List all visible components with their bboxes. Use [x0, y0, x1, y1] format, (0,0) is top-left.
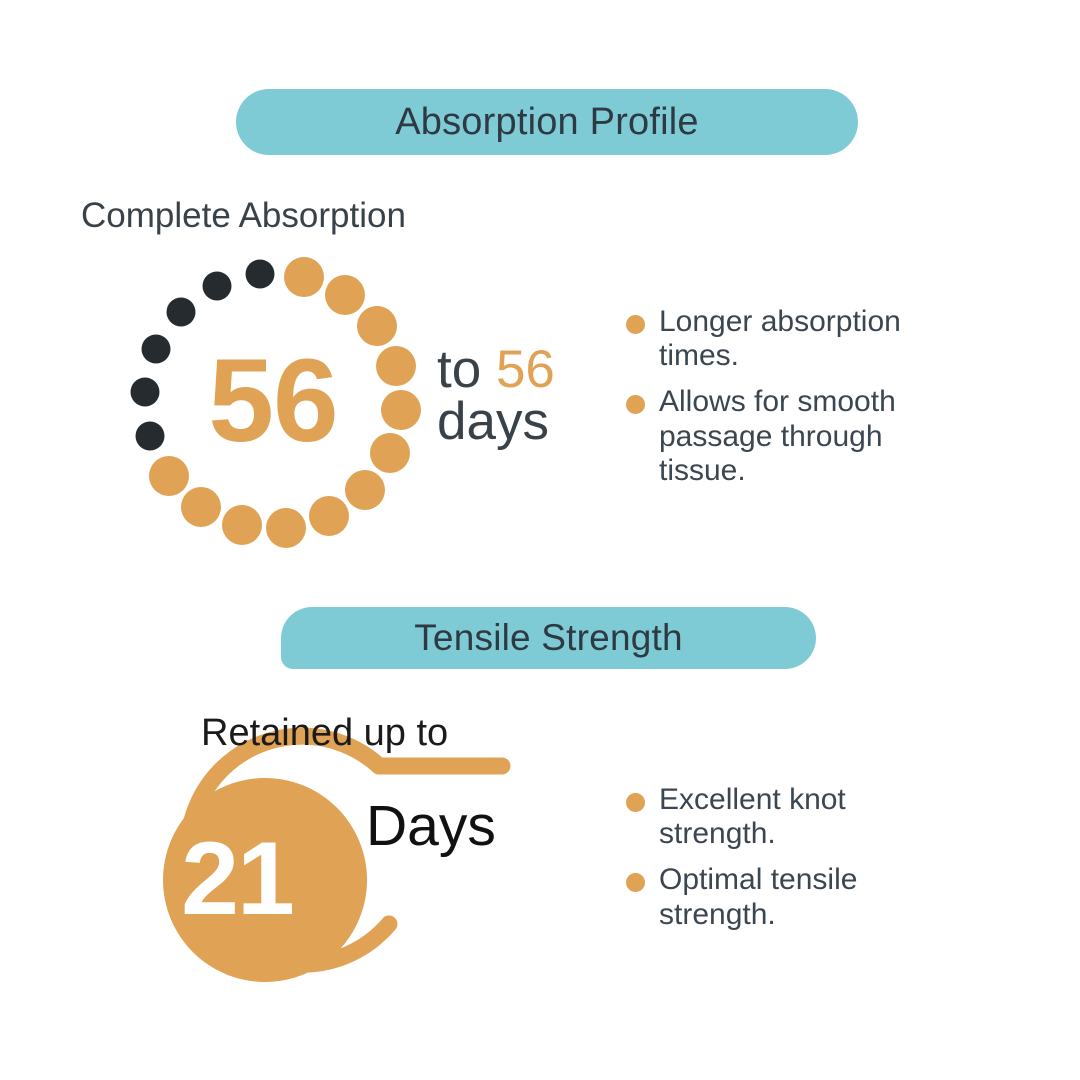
sub-label-retained-up-to: Retained up to [201, 712, 448, 755]
list-item: Allows for smooth passage through tissue… [626, 385, 956, 488]
bullet-dot-icon [626, 793, 645, 812]
bullet-dot-icon [626, 315, 645, 334]
bullet-dot-icon [626, 395, 645, 414]
list-item: Excellent knot strength. [626, 783, 956, 851]
list-item: Optimal tensile strength. [626, 863, 956, 931]
banner-label-absorption-profile: Absorption Profile [395, 101, 699, 144]
arc-donut-value: 21 [127, 799, 347, 959]
caption-value: 56 [496, 340, 555, 399]
dot-ring-caption: to 56 days [437, 344, 555, 448]
bullet-list-tensile: Excellent knot strength. Optimal tensile… [626, 783, 956, 944]
bullet-text: Excellent knot strength. [659, 783, 956, 851]
bullet-text: Allows for smooth passage through tissue… [659, 385, 956, 488]
bullet-list-absorption: Longer absorption times. Allows for smoo… [626, 305, 956, 500]
caption-unit: days [437, 396, 555, 448]
arc-donut-unit: Days [366, 793, 496, 859]
dot-ring-value: 56 [128, 256, 418, 546]
sub-label-complete-absorption: Complete Absorption [81, 196, 406, 236]
caption-prefix: to [437, 340, 481, 399]
bullet-text: Longer absorption times. [659, 305, 956, 373]
list-item: Longer absorption times. [626, 305, 956, 373]
bullet-text: Optimal tensile strength. [659, 863, 956, 931]
section-banner-absorption-profile: Absorption Profile [236, 89, 858, 155]
banner-label-tensile-strength: Tensile Strength [414, 617, 683, 659]
infographic-canvas: Absorption Profile Complete Absorption 5… [0, 0, 1080, 1080]
section-banner-tensile-strength: Tensile Strength [281, 607, 816, 669]
bullet-dot-icon [626, 873, 645, 892]
